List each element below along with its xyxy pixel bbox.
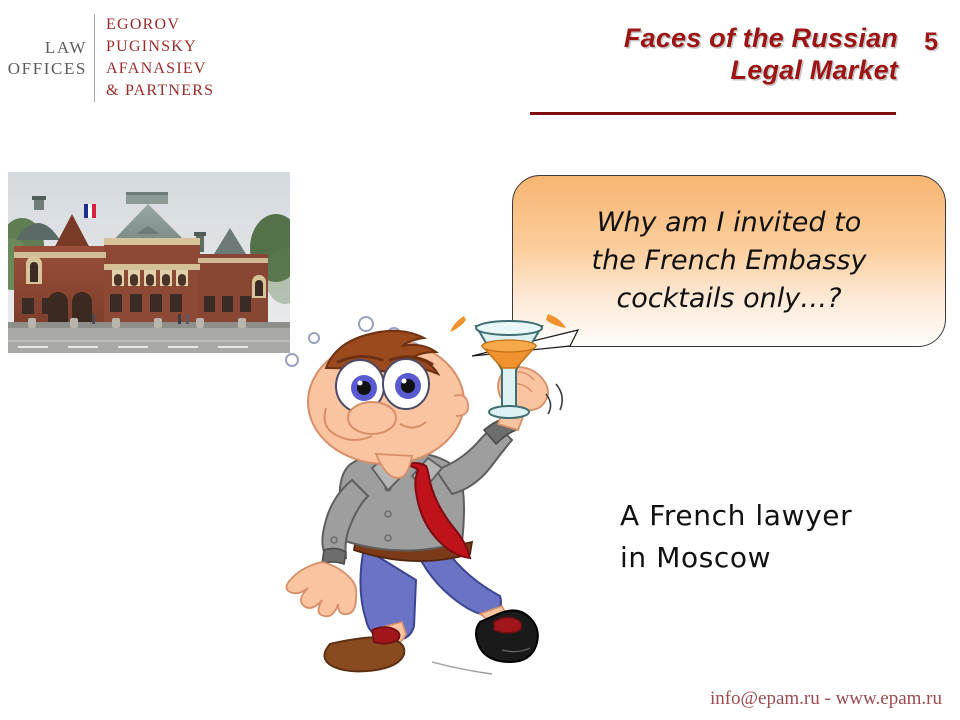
logo-law-offices: LAW OFFICES bbox=[8, 12, 94, 104]
hand-left bbox=[286, 562, 356, 616]
logo-name-line-1: EGOROV bbox=[106, 14, 214, 36]
slide-title: Faces of the Russian Legal Market bbox=[538, 22, 898, 86]
logo-firm-name: EGOROV PUGINSKY AFANASIEV & PARTNERS bbox=[95, 12, 214, 104]
company-logo: LAW OFFICES EGOROV PUGINSKY AFANASIEV & … bbox=[8, 12, 258, 104]
slide-title-line-1: Faces of the Russian bbox=[538, 22, 898, 54]
logo-law-line: LAW bbox=[45, 37, 87, 58]
footer-contact[interactable]: info@epam.ru - www.epam.ru bbox=[710, 688, 942, 710]
speech-bubble-text: Why am I invited to the French Embassy c… bbox=[576, 204, 883, 318]
caption-line-1: A French lawyer bbox=[620, 495, 852, 537]
logo-name-line-2: PUGINSKY bbox=[106, 36, 214, 58]
motion-line bbox=[432, 662, 492, 674]
slide: LAW OFFICES EGOROV PUGINSKY AFANASIEV & … bbox=[0, 0, 960, 720]
header-divider-rule bbox=[530, 112, 896, 115]
embassy-photo bbox=[8, 172, 290, 353]
ear bbox=[454, 395, 468, 416]
logo-name-line-4: & PARTNERS bbox=[106, 80, 214, 102]
splash-left bbox=[450, 316, 466, 332]
logo-offices-line: OFFICES bbox=[8, 58, 87, 79]
embassy-photo-illustration bbox=[8, 172, 290, 353]
caption: A French lawyer in Moscow bbox=[620, 495, 852, 579]
french-flag-icon bbox=[84, 204, 96, 218]
page-number: 5 bbox=[924, 28, 938, 57]
logo-name-line-3: AFANASIEV bbox=[106, 58, 214, 80]
caption-line-2: in Moscow bbox=[620, 537, 852, 579]
cartoon-man-with-cocktail bbox=[268, 312, 598, 687]
speech-bubble-line-2: the French Embassy bbox=[592, 242, 867, 280]
splash-right bbox=[546, 314, 566, 328]
speech-bubble-line-3: cocktails only…? bbox=[592, 280, 867, 318]
nose bbox=[348, 402, 396, 434]
speech-bubble-line-1: Why am I invited to bbox=[592, 204, 867, 242]
slide-title-line-2: Legal Market bbox=[538, 54, 898, 86]
